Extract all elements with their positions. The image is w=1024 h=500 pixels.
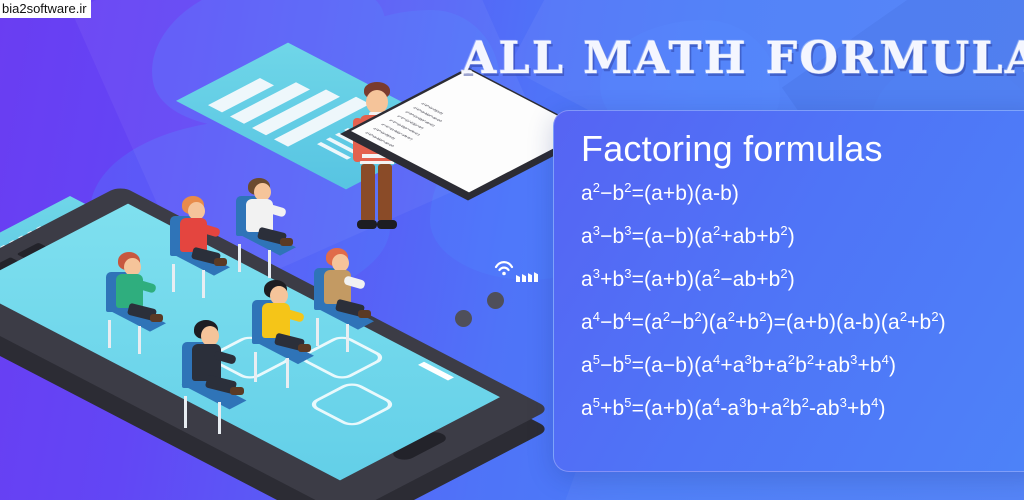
- phone-camera: [455, 310, 472, 327]
- formula-row: a5+b5=(a+b)(a4-a3b+a2b2-ab3+b4): [581, 398, 1024, 420]
- formula-row: a4−b4=(a2−b2)(a2+b2)=(a+b)(a-b)(a2+b2): [581, 312, 1024, 334]
- whiteboard-line: a³-b³=(a-b)(a²+ab+b²): [364, 131, 395, 147]
- banner-title: ALL MATH FORMULA: [462, 33, 1024, 84]
- signal-bars-icon: [516, 262, 542, 282]
- watermark-label: bia2software.ir: [0, 0, 91, 18]
- panel-heading: Factoring formulas: [581, 129, 1024, 169]
- factoring-formulas-panel: Factoring formulas a2−b2=(a+b)(a-b) a3−b…: [553, 110, 1024, 472]
- screenshot-canvas: a²-b²=(a+b)(a-b) a³-b³=(a-b)(a²+ab+b²) a…: [0, 0, 1024, 500]
- wifi-icon: [494, 258, 514, 276]
- phone-camera: [487, 292, 504, 309]
- formula-row: a2−b2=(a+b)(a-b): [581, 183, 1024, 205]
- formula-row: a3−b3=(a−b)(a2+ab+b2): [581, 226, 1024, 248]
- formula-row: a3+b3=(a+b)(a2−ab+b2): [581, 269, 1024, 291]
- formula-row: a5−b5=(a−b)(a4+a3b+a2b2+ab3+b4): [581, 355, 1024, 377]
